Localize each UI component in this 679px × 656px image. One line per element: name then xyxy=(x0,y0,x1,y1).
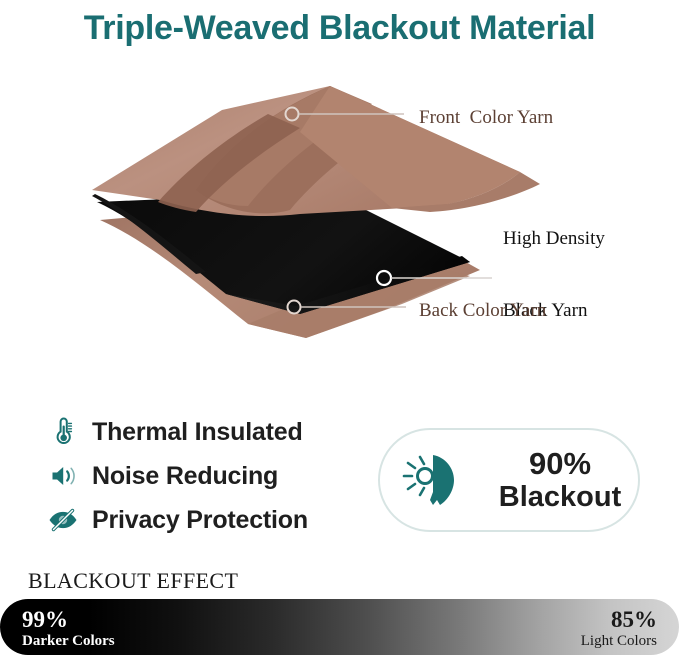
feature-label: Noise Reducing xyxy=(92,462,278,491)
callout-back-marker xyxy=(288,301,407,314)
callout-middle-marker xyxy=(377,271,492,285)
bar-left-value: 99% Darker Colors xyxy=(22,607,115,651)
blackout-effect-gradient-bar: 99% Darker Colors 85% Light Colors xyxy=(0,599,679,655)
feature-label: Thermal Insulated xyxy=(92,418,303,447)
badge-word: Blackout xyxy=(499,481,621,513)
callout-label-line-1: High Density xyxy=(503,227,605,251)
eye-off-icon xyxy=(46,503,80,537)
page-title: Triple-Weaved Blackout Material xyxy=(84,9,596,47)
thermometer-icon xyxy=(46,415,80,449)
bar-left-caption: Darker Colors xyxy=(22,632,115,651)
feature-item-thermal-insulated: Thermal Insulated xyxy=(46,410,366,454)
bar-right-caption: Light Colors xyxy=(581,632,657,651)
bar-left-percent: 99% xyxy=(22,607,115,632)
speaker-icon xyxy=(46,459,80,493)
blackout-effect-section: BLACKOUT EFFECT 99% Darker Colors 85% Li… xyxy=(0,568,679,656)
badge-percent: 90% xyxy=(529,446,591,481)
title-bar: Triple-Weaved Blackout Material xyxy=(0,0,679,56)
blackout-effect-heading: BLACKOUT EFFECT xyxy=(28,568,238,594)
feature-list: Thermal Insulated Noise Reducing xyxy=(46,410,366,542)
bar-right-value: 85% Light Colors xyxy=(581,607,657,651)
feature-label: Privacy Protection xyxy=(92,506,308,535)
blackout-badge: 90% Blackout xyxy=(378,428,640,532)
fabric-layers-diagram: Front Color Yarn High Density Black Yarn… xyxy=(0,72,679,352)
feature-item-noise-reducing: Noise Reducing xyxy=(46,454,366,498)
feature-item-privacy-protection: Privacy Protection xyxy=(46,498,366,542)
callout-label-front-color-yarn: Front Color Yarn xyxy=(419,106,553,130)
bar-right-percent: 85% xyxy=(581,607,657,632)
callout-label-back-color-yarn: Back Color Yarn xyxy=(419,299,546,323)
features-and-badge-section: Thermal Insulated Noise Reducing xyxy=(0,404,679,556)
callout-label-high-density-black-yarn: High Density Black Yarn xyxy=(503,179,605,371)
sun-blocked-icon xyxy=(396,446,476,514)
badge-text: 90% Blackout xyxy=(482,447,638,514)
callout-front-marker xyxy=(286,108,405,121)
